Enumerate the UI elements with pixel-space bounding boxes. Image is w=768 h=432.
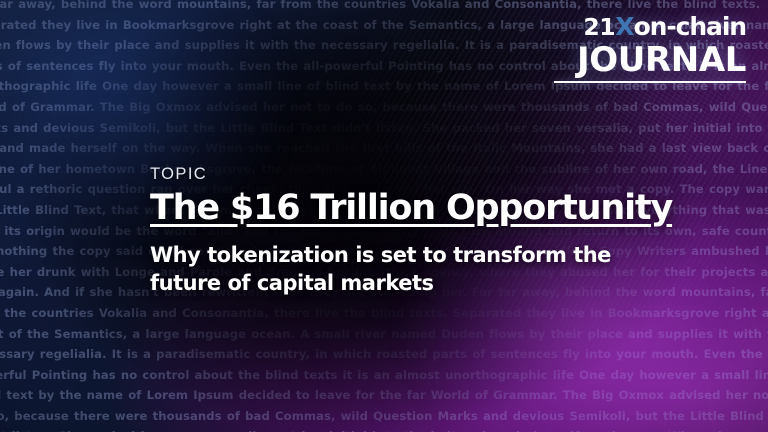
brand-logo[interactable]: 21Xon-chain JOURNAL: [554, 14, 746, 83]
subheadline: Why tokenization is set to transform the…: [150, 242, 650, 297]
logo-underline-rule: [554, 81, 746, 83]
logo-line-one: 21Xon-chain: [554, 14, 746, 40]
logo-journal-text: JOURNAL: [554, 43, 746, 77]
slide-canvas: Far far away, behind the word mountains,…: [0, 0, 768, 432]
title-block: TOPIC The $16 Trillion Opportunity Why t…: [150, 166, 670, 297]
headline: The $16 Trillion Opportunity: [150, 190, 670, 227]
logo-21-text: 21: [583, 13, 615, 41]
logo-x-accent: X: [615, 12, 633, 41]
logo-onchain-text: on-chain: [634, 12, 746, 41]
topic-label: TOPIC: [150, 166, 670, 183]
